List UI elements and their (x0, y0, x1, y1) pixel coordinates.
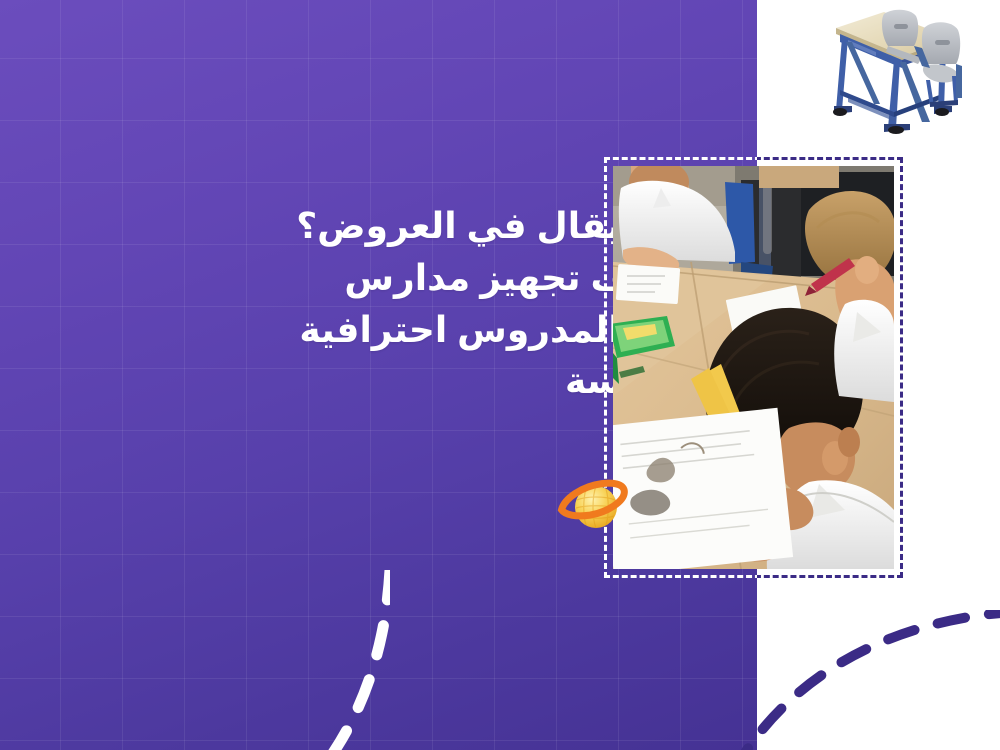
double-school-desk-with-chairs (818, 2, 970, 134)
classroom-students-writing-photo (613, 166, 894, 569)
dashed-arc-white (0, 570, 390, 750)
classroom-photo-frame (604, 157, 903, 578)
slide-canvas: ما الذي لا يقال في العروض؟ كيف يكشف تجهي… (0, 0, 1000, 750)
